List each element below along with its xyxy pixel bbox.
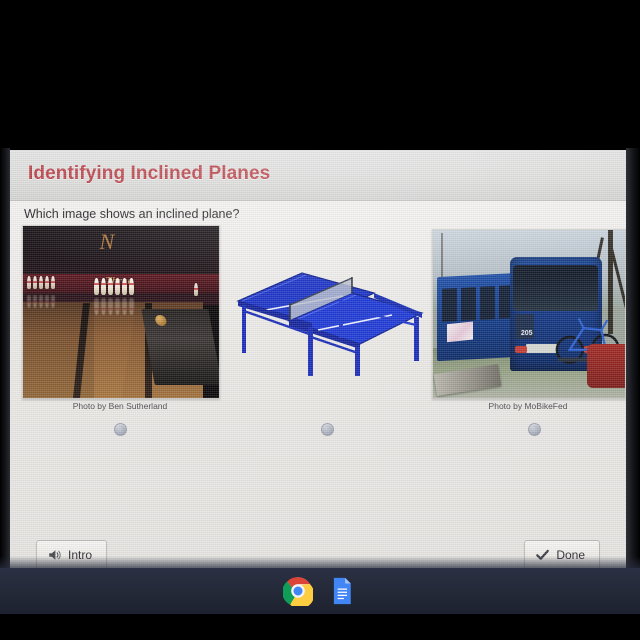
page-title: Identifying Inclined Planes (28, 163, 270, 185)
monitor-photo: Identifying Inclined Planes Which image … (0, 0, 640, 640)
letterbox-bottom (0, 614, 640, 640)
letterbox-left (0, 148, 10, 568)
chrome-icon[interactable] (283, 576, 313, 606)
choice-b-radio[interactable] (321, 423, 334, 436)
bus-photo-illustration: 205 (433, 230, 625, 398)
lesson-window: Identifying Inclined Planes Which image … (10, 150, 626, 568)
bus-number: 205 (521, 330, 533, 337)
window-titlebar: Identifying Inclined Planes (10, 150, 626, 201)
choice-b-image[interactable] (226, 251, 426, 376)
choice-a-caption: Photo by Ben Sutherland (22, 401, 218, 411)
bowling-alley-illustration: N Three (23, 226, 219, 398)
choice-c-radio[interactable] (528, 423, 541, 436)
choice-a-image[interactable]: N Three (22, 225, 220, 399)
red-car (587, 344, 625, 388)
ping-pong-table-illustration (226, 251, 426, 376)
ball-return (142, 309, 220, 385)
letterbox-right (626, 148, 640, 568)
question-prompt: Which image shows an inclined plane? (24, 207, 239, 221)
taskbar (0, 568, 640, 614)
choice-c-caption: Photo by MoBikeFed (432, 401, 624, 411)
choice-a-radio[interactable] (114, 423, 127, 436)
letterbox-top (0, 0, 640, 150)
lesson-content: Which image shows an inclined plane? N T… (10, 201, 626, 568)
google-docs-icon[interactable] (327, 576, 357, 606)
choice-c-image[interactable]: 205 (432, 229, 626, 399)
